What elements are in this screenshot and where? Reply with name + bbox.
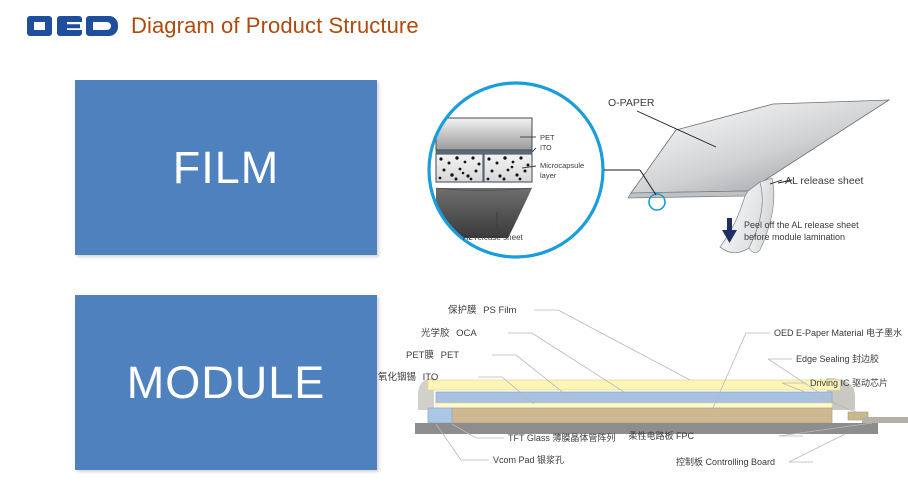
layer-oca-pet — [436, 392, 832, 403]
page-title: Diagram of Product Structure — [131, 13, 419, 39]
label-oca-en: OCA — [456, 328, 477, 339]
peel-note-line1: Peel off the AL release sheet — [744, 220, 859, 230]
label-al-release-sheet-zoom: AL release sheet — [463, 233, 524, 242]
label-ito: ITO — [540, 145, 552, 152]
category-box-film[interactable]: FILM — [75, 80, 377, 255]
edge-sealing-right — [827, 378, 855, 410]
label-pet: PET — [540, 133, 555, 142]
label-ito-en: ITO — [423, 372, 439, 383]
o-paper-leader — [637, 111, 716, 147]
label-ps-film: 保护膜 PS Film — [448, 304, 516, 316]
label-ps-film-cn: 保护膜 — [448, 304, 477, 316]
label-ito-cn: 氧化铟锡 — [378, 371, 416, 383]
locator-circle — [649, 194, 665, 210]
module-bottom-leaders — [436, 423, 872, 462]
label-al-release-sheet: AL release sheet — [785, 175, 863, 187]
label-microcapsule: Microcapsule — [540, 161, 584, 170]
peel-off-arrow-icon — [722, 218, 737, 243]
oed-logo — [27, 11, 119, 41]
module-right-leaders — [712, 333, 856, 412]
label-oca-cn: 光学胶 — [421, 327, 450, 339]
magnifier-connector — [604, 170, 656, 195]
header: Diagram of Product Structure — [0, 0, 908, 56]
label-driving-ic: Driving IC 驱动芯片 — [810, 377, 888, 388]
module-left-leaders — [478, 310, 690, 404]
label-edge-sealing: Edge Sealing 封边胶 — [796, 353, 879, 364]
o-paper-sheet — [628, 100, 889, 253]
label-tft-glass: TFT Glass 薄膜晶体管阵列 — [508, 432, 615, 443]
module-bottom-labels: TFT Glass 薄膜晶体管阵列 Vcom Pad 银浆孔 柔性电路板 FPC… — [493, 430, 775, 467]
label-pet-module: PET膜 PET — [406, 350, 459, 361]
label-oca: 光学胶 OCA — [421, 327, 477, 339]
label-vcom-pad: Vcom Pad 银浆孔 — [493, 454, 564, 465]
category-box-module[interactable]: MODULE — [75, 295, 377, 470]
film-callout-leaders — [497, 137, 536, 230]
label-pet-en: PET — [441, 350, 460, 361]
driving-ic-chip — [848, 412, 868, 420]
layer-epaper-tft — [452, 408, 832, 423]
category-label-film: FILM — [173, 145, 280, 190]
edge-sealing-left — [418, 378, 434, 410]
label-o-paper: O-PAPER — [608, 97, 655, 109]
label-ito-module: 氧化铟锡 ITO — [378, 371, 438, 383]
module-right-labels: OED E-Paper Material 电子墨水 Edge Sealing 封… — [774, 327, 902, 388]
film-magnifier-content — [436, 118, 532, 238]
label-epaper-material: OED E-Paper Material 电子墨水 — [774, 327, 902, 338]
controlling-board — [415, 423, 878, 434]
label-ps-film-en: PS Film — [483, 305, 516, 316]
slide-root: Diagram of Product Structure FILM MODULE — [0, 0, 908, 494]
layer-ps-film — [428, 380, 840, 390]
al-release-sheet-leader — [770, 180, 792, 184]
peel-note-line2: before module lamination — [744, 232, 845, 242]
magnifier-circle — [429, 83, 603, 257]
label-microcapsule-layer: layer — [540, 171, 557, 180]
label-controlling-board: 控制板 Controlling Board — [676, 456, 775, 467]
fpc-strip — [862, 417, 908, 423]
label-pet-cn: PET膜 — [406, 350, 434, 361]
module-cross-section — [415, 378, 908, 434]
layer-vcom-pad — [428, 408, 452, 423]
layer-ito — [436, 403, 832, 408]
microcapsule-dots — [439, 156, 530, 180]
category-label-module: MODULE — [127, 360, 326, 405]
module-left-labels: 保护膜 PS Film 光学胶 OCA PET膜 PET 氧化铟锡 ITO — [378, 304, 516, 383]
label-fpc: 柔性电路板 FPC — [628, 430, 694, 441]
